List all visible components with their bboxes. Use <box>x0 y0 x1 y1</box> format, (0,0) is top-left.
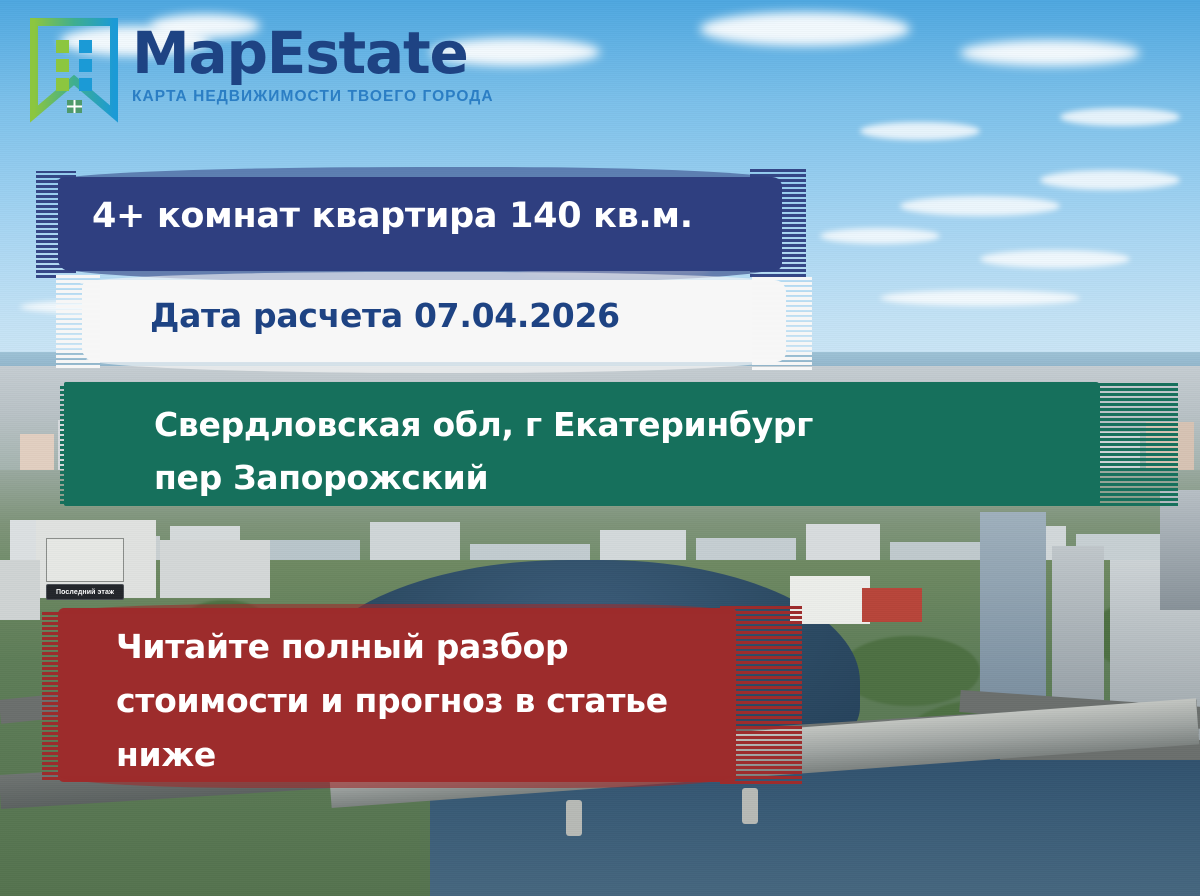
banner-line: Свердловская обл, г Екатеринбург <box>154 398 1178 451</box>
cloud <box>1060 108 1180 126</box>
brush-edge-bottom <box>86 359 778 373</box>
brand-logo[interactable]: MapEstate КАРТА НЕДВИЖИМОСТИ ТВОЕГО ГОРО… <box>30 18 494 124</box>
banner-text-group: Читайте полный разбор стоимости и прогно… <box>42 604 802 781</box>
banner-line: 4+ комнат квартира 140 кв.м. <box>92 196 806 236</box>
billboard-sign: Последний этаж <box>46 584 124 600</box>
banner-line: ниже <box>116 728 802 782</box>
cloud <box>960 40 1140 66</box>
cloud <box>820 228 940 244</box>
billboard-text: Последний этаж <box>56 589 114 596</box>
cloud <box>860 122 980 140</box>
building <box>862 588 922 622</box>
building <box>790 576 870 624</box>
banner-calculation-date: Дата расчета 07.04.2026 <box>56 270 812 374</box>
billboard-frame <box>46 538 124 582</box>
banner-line: Дата расчета 07.04.2026 <box>150 297 812 335</box>
cloud <box>980 250 1130 268</box>
banner-text-group: 4+ комнат квартира 140 кв.м. <box>36 165 806 236</box>
tree-cluster <box>840 636 980 706</box>
bridge-pier <box>742 788 758 824</box>
banner-location: Свердловская обл, г Екатеринбург пер Зап… <box>60 382 1178 506</box>
banner-property-summary: 4+ комнат квартира 140 кв.м. <box>36 165 806 283</box>
banner-text-group: Свердловская обл, г Екатеринбург пер Зап… <box>60 382 1178 505</box>
banner-line: стоимости и прогноз в статье <box>116 674 802 728</box>
banner-call-to-action: Читайте полный разбор стоимости и прогно… <box>42 604 802 788</box>
building <box>0 560 40 620</box>
cloud <box>880 290 1080 306</box>
bridge-pier <box>566 800 582 836</box>
cloud <box>700 12 910 46</box>
building <box>160 540 270 598</box>
brand-wordmark-group: MapEstate КАРТА НЕДВИЖИМОСТИ ТВОЕГО ГОРО… <box>132 18 494 106</box>
banner-line: пер Запорожский <box>154 451 1178 504</box>
banner-line: Читайте полный разбор <box>116 620 802 674</box>
brand-tagline: КАРТА НЕДВИЖИМОСТИ ТВОЕГО ГОРОДА <box>132 88 494 106</box>
banner-text-group: Дата расчета 07.04.2026 <box>56 270 812 335</box>
brand-wordmark: MapEstate <box>132 24 494 82</box>
bookmark-building-icon <box>30 18 118 124</box>
cloud <box>1040 170 1180 190</box>
high-rise-building <box>1160 490 1200 610</box>
cloud <box>900 196 1060 216</box>
